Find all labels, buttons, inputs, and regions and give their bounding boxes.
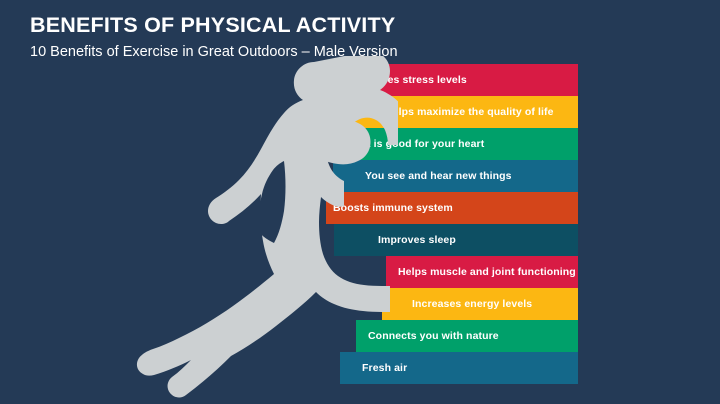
benefit-bar[interactable]: Helps maximize the quality of life <box>334 96 578 128</box>
benefit-bar-list: Decreases stress levelsHelps maximize th… <box>0 0 720 404</box>
slide-canvas: BENEFITS OF PHYSICAL ACTIVITY 10 Benefit… <box>0 0 720 404</box>
benefit-bar-label: It is good for your heart <box>364 138 484 150</box>
benefit-bar-label: Fresh air <box>362 362 407 374</box>
benefit-bar-label: Decreases stress levels <box>346 74 467 86</box>
benefit-bar[interactable]: Improves sleep <box>334 224 578 256</box>
benefit-bar[interactable]: Connects you with nature <box>356 320 578 352</box>
benefit-bar-label: Helps muscle and joint functioning <box>398 266 576 278</box>
benefit-bar-label: Improves sleep <box>378 234 456 246</box>
benefit-bar[interactable]: It is good for your heart <box>350 128 578 160</box>
benefit-bar[interactable]: Increases energy levels <box>382 288 578 320</box>
benefit-bar-label: Helps maximize the quality of life <box>385 106 554 118</box>
benefit-bar[interactable]: You see and hear new things <box>333 160 578 192</box>
benefit-bar[interactable]: Decreases stress levels <box>336 64 578 96</box>
benefit-bar-label: Boosts immune system <box>333 202 453 214</box>
benefit-bar-label: Increases energy levels <box>412 298 532 310</box>
benefit-bar[interactable]: Helps muscle and joint functioning <box>386 256 578 288</box>
benefit-bar[interactable]: Fresh air <box>340 352 578 384</box>
benefit-bar-label: You see and hear new things <box>365 170 512 182</box>
benefit-bar-label: Connects you with nature <box>368 330 499 342</box>
benefit-bar[interactable]: Boosts immune system <box>326 192 578 224</box>
